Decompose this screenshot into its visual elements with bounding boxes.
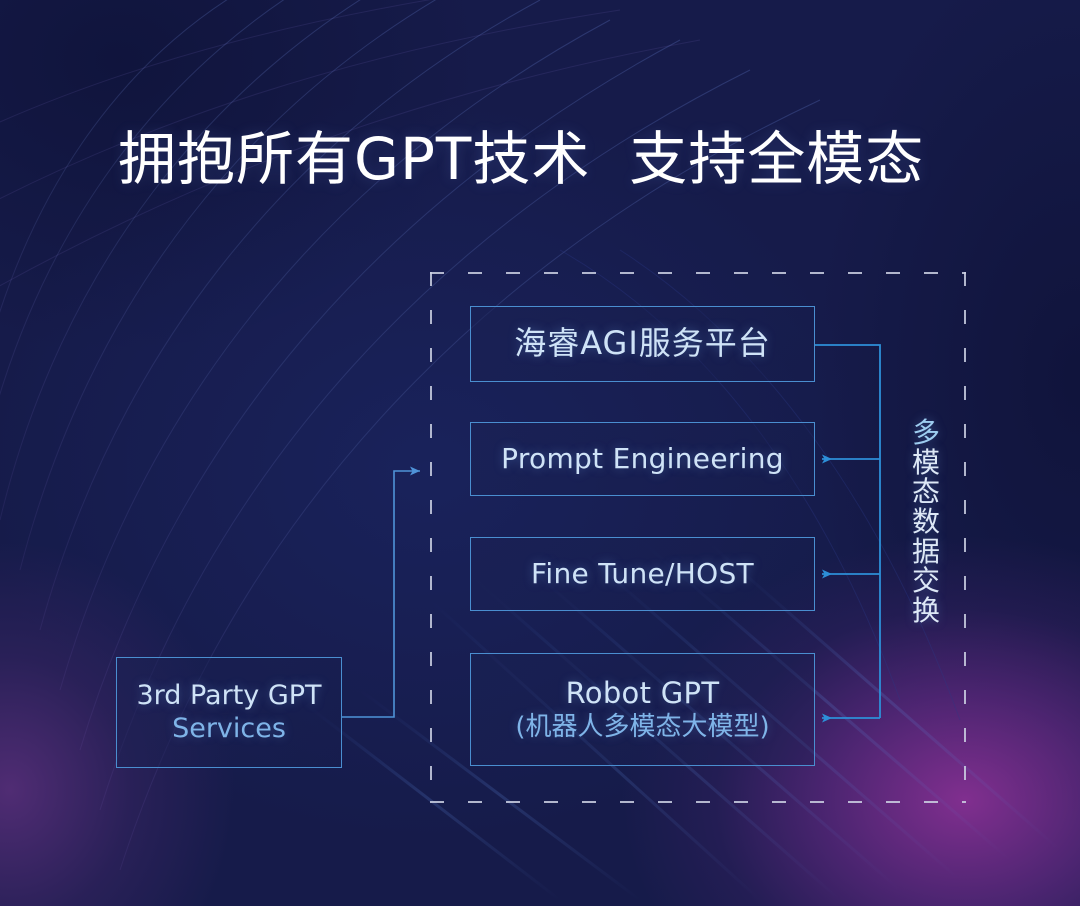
side-label-char-5: 交	[905, 566, 947, 596]
side-label-char-6: 换	[905, 596, 947, 626]
node-agi-platform[interactable]: 海睿AGI服务平台	[470, 306, 815, 382]
slide-canvas: 拥抱所有GPT技术 支持全模态 海睿AGI服务平台	[0, 0, 1080, 906]
node-fine-tune-host[interactable]: Fine Tune/HOST	[470, 537, 815, 611]
node-third-party-gpt[interactable]: 3rd Party GPT Services	[116, 657, 342, 768]
side-label-multimodal-exchange: 多 模 态 数 据 交 换	[905, 418, 947, 626]
side-label-char-3: 数	[905, 507, 947, 537]
side-label-char-4: 据	[905, 537, 947, 567]
page-title: 拥抱所有GPT技术 支持全模态	[118, 112, 924, 196]
node-prompt-engineering[interactable]: Prompt Engineering	[470, 422, 815, 496]
node-prompt-engineering-title: Prompt Engineering	[501, 442, 784, 475]
side-label-char-0: 多	[905, 418, 947, 448]
node-third-party-gpt-subtitle: Services	[172, 713, 286, 745]
node-fine-tune-host-title: Fine Tune/HOST	[531, 557, 754, 590]
node-robot-gpt-title: Robot GPT	[566, 676, 720, 710]
node-third-party-gpt-title: 3rd Party GPT	[136, 680, 321, 712]
side-label-char-2: 态	[905, 477, 947, 507]
node-robot-gpt[interactable]: Robot GPT (机器人多模态大模型)	[470, 653, 815, 766]
node-agi-platform-title: 海睿AGI服务平台	[514, 325, 771, 363]
side-label-char-1: 模	[905, 448, 947, 478]
node-robot-gpt-subtitle: (机器人多模态大模型)	[515, 712, 769, 743]
